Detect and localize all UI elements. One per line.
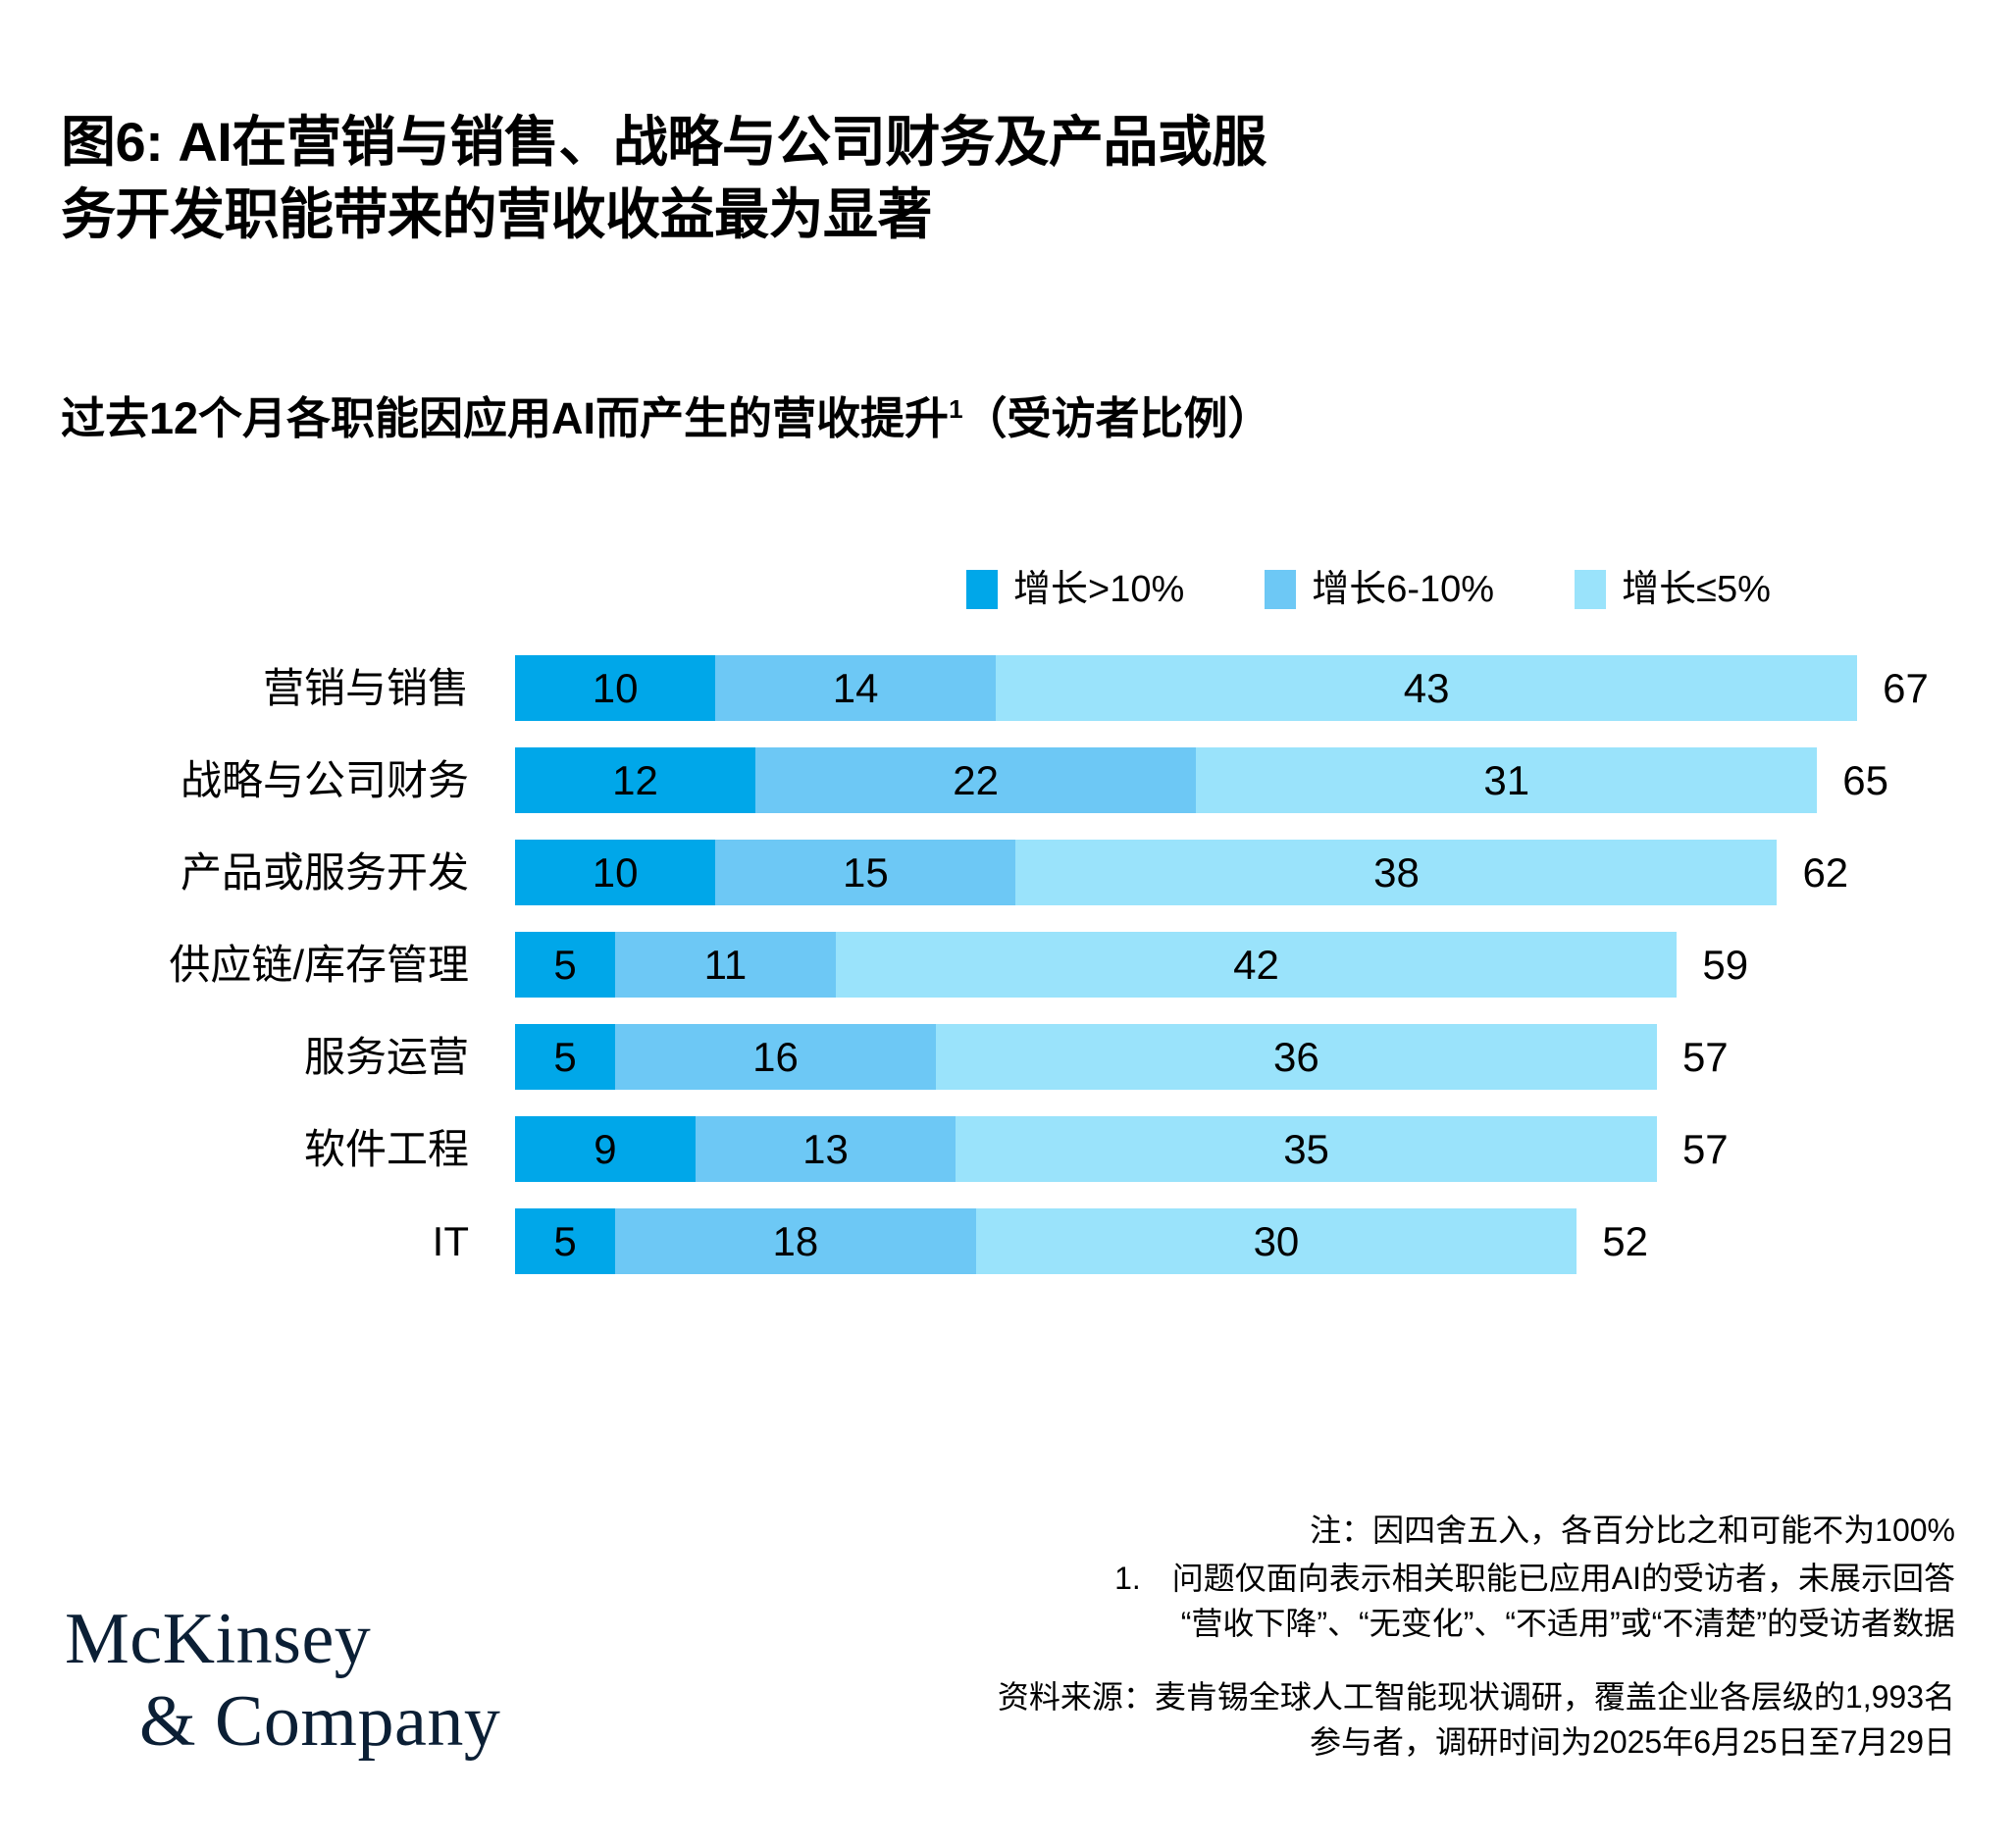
bar-segment-value: 35 xyxy=(1283,1129,1329,1170)
legend-item-growth-lte-5: 增长≤5% xyxy=(1575,570,1771,609)
stacked-bar: 101443 xyxy=(515,655,1857,721)
bar-segment: 18 xyxy=(615,1208,976,1274)
bar-segment: 43 xyxy=(996,655,1857,721)
bar-segment-value: 10 xyxy=(593,852,639,894)
category-label: 软件工程 xyxy=(0,1129,491,1170)
bar-segment-value: 5 xyxy=(553,1037,576,1078)
bar-segment-value: 12 xyxy=(612,760,658,801)
bar-segment-value: 10 xyxy=(593,668,639,709)
title-line-2: 务开发职能带来的营收收益最为显著 xyxy=(61,183,932,245)
bar-segment: 15 xyxy=(715,840,1015,905)
legend-item-growth-gt-10: 增长>10% xyxy=(966,570,1184,609)
subtitle-tail: （受访者比例） xyxy=(963,393,1272,443)
category-label: 服务运营 xyxy=(0,1037,491,1078)
bar-total-value: 59 xyxy=(1677,932,1748,998)
logo-line-1: McKinsey xyxy=(65,1603,575,1675)
bar-segment-value: 22 xyxy=(953,760,999,801)
legend-swatch-icon xyxy=(1575,570,1606,609)
legend-swatch-icon xyxy=(966,570,998,609)
category-label: 供应链/库存管理 xyxy=(0,945,491,986)
bar-segment: 10 xyxy=(515,655,715,721)
bar-segment: 30 xyxy=(976,1208,1577,1274)
bar-total-value: 52 xyxy=(1577,1208,1648,1274)
bar-segment-value: 18 xyxy=(773,1221,819,1262)
category-label: 战略与公司财务 xyxy=(0,760,491,801)
bar-segment: 10 xyxy=(515,840,715,905)
bar-segment: 14 xyxy=(715,655,996,721)
subtitle-main: 过去12个月各职能因应用AI而产生的营收提升 xyxy=(61,393,949,443)
bar-total-value: 67 xyxy=(1857,655,1929,721)
bar-segment-value: 38 xyxy=(1373,852,1420,894)
legend-label: 增长≤5% xyxy=(1622,571,1771,608)
chart-row: IT5183052 xyxy=(0,1208,2016,1274)
bar-total-value: 65 xyxy=(1817,747,1888,813)
stacked-bar: 91335 xyxy=(515,1116,1657,1182)
bar-segment: 13 xyxy=(696,1116,956,1182)
footnote-line-2: “营收下降”、“无变化”、“不适用”或“不清楚”的受访者数据 xyxy=(650,1602,1955,1646)
bar-segment: 12 xyxy=(515,747,755,813)
chart-row: 战略与公司财务12223165 xyxy=(0,747,2016,813)
bar-segment-value: 42 xyxy=(1233,945,1279,986)
logo-line-2: & Company xyxy=(65,1685,575,1758)
bar-total-value: 57 xyxy=(1657,1116,1729,1182)
legend-label: 增长>10% xyxy=(1013,571,1184,608)
bar-segment: 31 xyxy=(1196,747,1817,813)
bar-segment: 22 xyxy=(755,747,1196,813)
chart-row: 产品或服务开发10153862 xyxy=(0,840,2016,905)
stacked-bar: 51636 xyxy=(515,1024,1657,1090)
subtitle-footnote-marker: 1 xyxy=(949,394,962,424)
chart-row: 营销与销售10144367 xyxy=(0,655,2016,721)
page-title: 图6: AI在营销与销售、战略与公司财务及产品或服 务开发职能带来的营收收益最为… xyxy=(61,106,1709,252)
bar-segment: 11 xyxy=(615,932,836,998)
category-label: IT xyxy=(0,1221,491,1262)
bar-segment-value: 16 xyxy=(752,1037,799,1078)
note-rounding: 注：因四舍五入，各百分比之和可能不为100% xyxy=(650,1509,1955,1553)
bar-segment: 36 xyxy=(936,1024,1657,1090)
legend-label: 增长6-10% xyxy=(1312,571,1494,608)
legend-item-growth-6-10: 增长6-10% xyxy=(1265,570,1494,609)
stacked-bar: 101538 xyxy=(515,840,1777,905)
bar-segment: 16 xyxy=(615,1024,936,1090)
bar-segment-value: 43 xyxy=(1404,668,1450,709)
bar-segment-value: 14 xyxy=(833,668,879,709)
stacked-bar: 51830 xyxy=(515,1208,1577,1274)
bar-segment-value: 15 xyxy=(843,852,889,894)
title-line-1: 图6: AI在营销与销售、战略与公司财务及产品或服 xyxy=(61,111,1266,173)
bar-segment-value: 5 xyxy=(553,1221,576,1262)
chart-notes: 注：因四舍五入，各百分比之和可能不为100% 1. 问题仅面向表示相关职能已应用… xyxy=(650,1509,1955,1765)
bar-segment-value: 13 xyxy=(802,1129,849,1170)
chart-row: 软件工程9133557 xyxy=(0,1116,2016,1182)
bar-segment: 42 xyxy=(836,932,1678,998)
chart-row: 供应链/库存管理5114259 xyxy=(0,932,2016,998)
bar-segment-value: 30 xyxy=(1254,1221,1300,1262)
bar-segment: 9 xyxy=(515,1116,696,1182)
source-line-1: 资料来源：麦肯锡全球人工智能现状调研，覆盖企业各层级的1,993名 xyxy=(650,1675,1955,1719)
bar-segment-value: 36 xyxy=(1273,1037,1319,1078)
stacked-bar: 51142 xyxy=(515,932,1677,998)
stacked-bar-chart: 营销与销售10144367战略与公司财务12223165产品或服务开发10153… xyxy=(0,655,2016,1301)
chart-page: 图6: AI在营销与销售、战略与公司财务及产品或服 务开发职能带来的营收收益最为… xyxy=(0,0,2016,1845)
bar-segment: 5 xyxy=(515,1208,615,1274)
category-label: 产品或服务开发 xyxy=(0,852,491,894)
bar-segment: 5 xyxy=(515,1024,615,1090)
bar-segment-value: 9 xyxy=(594,1129,616,1170)
chart-legend: 增长>10% 增长6-10% 增长≤5% xyxy=(966,567,1771,612)
category-label: 营销与销售 xyxy=(0,668,491,709)
bar-total-value: 57 xyxy=(1657,1024,1729,1090)
bar-segment-value: 5 xyxy=(553,945,576,986)
stacked-bar: 122231 xyxy=(515,747,1817,813)
chart-row: 服务运营5163657 xyxy=(0,1024,2016,1090)
mckinsey-logo: McKinsey & Company xyxy=(65,1603,575,1758)
footnote-line-1: 1. 问题仅面向表示相关职能已应用AI的受访者，未展示回答 xyxy=(650,1557,1955,1601)
bar-segment: 38 xyxy=(1015,840,1777,905)
bar-segment-value: 31 xyxy=(1483,760,1529,801)
bar-segment: 5 xyxy=(515,932,615,998)
bar-segment: 35 xyxy=(956,1116,1657,1182)
source-line-2: 参与者，调研时间为2025年6月25日至7月29日 xyxy=(650,1720,1955,1765)
chart-subtitle: 过去12个月各职能因应用AI而产生的营收提升1（受访者比例） xyxy=(61,392,1905,445)
bar-segment-value: 11 xyxy=(704,945,748,986)
legend-swatch-icon xyxy=(1265,570,1296,609)
bar-total-value: 62 xyxy=(1777,840,1848,905)
